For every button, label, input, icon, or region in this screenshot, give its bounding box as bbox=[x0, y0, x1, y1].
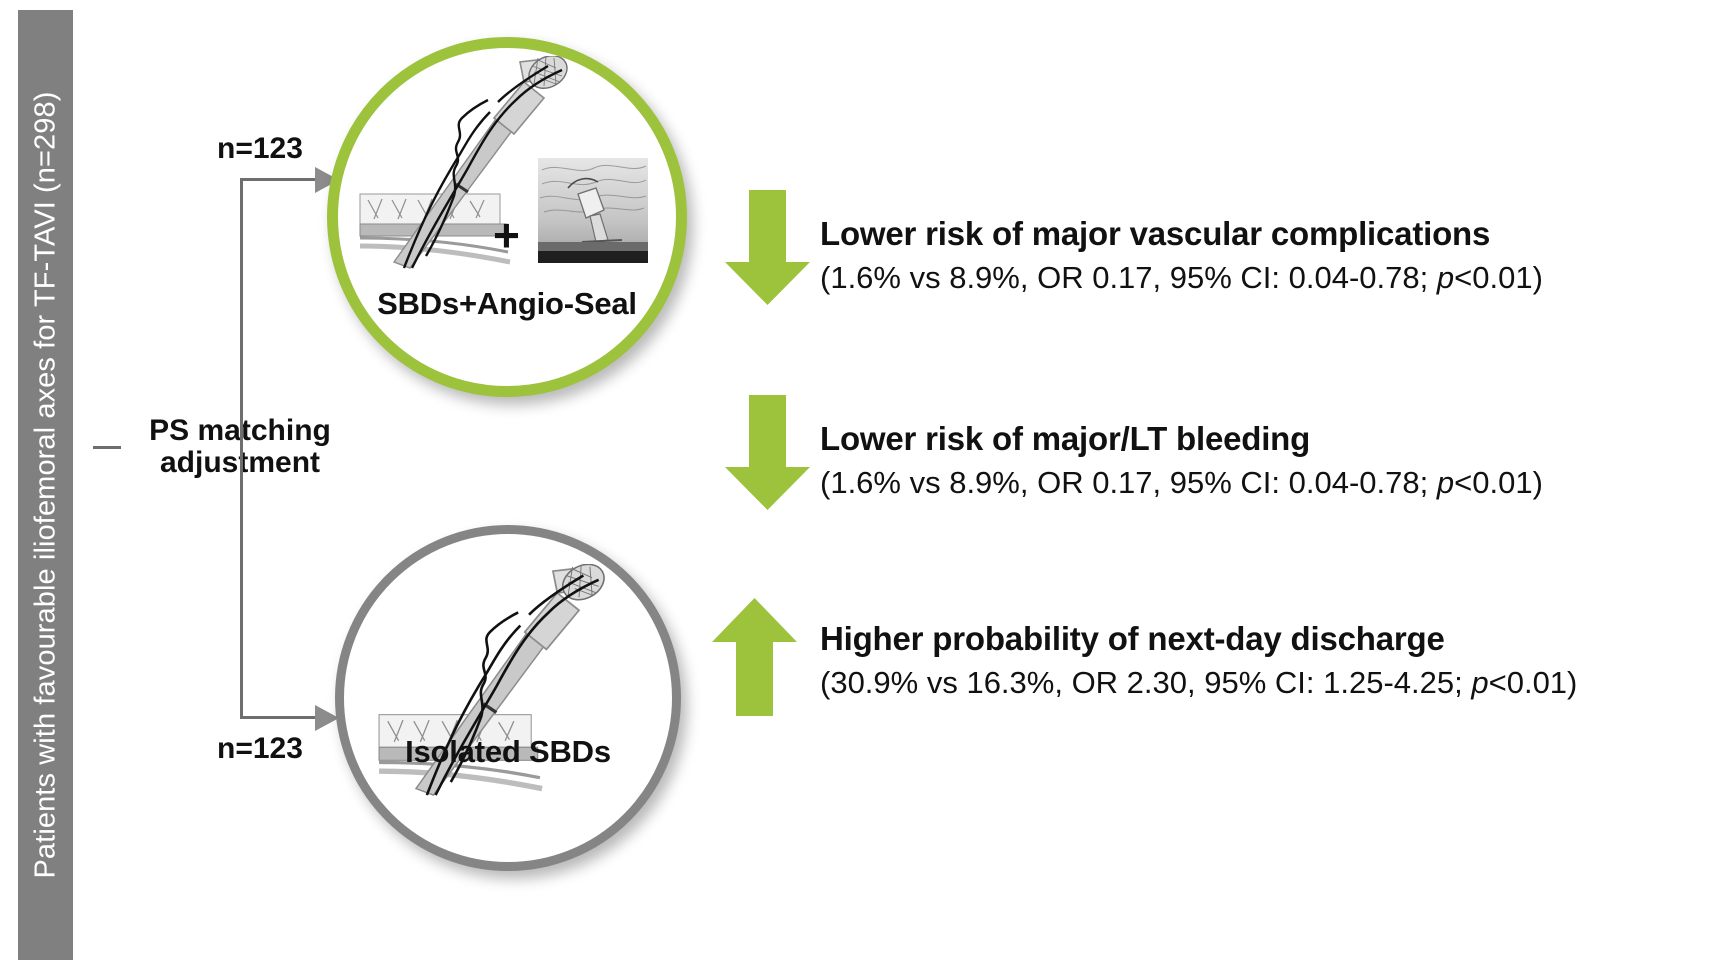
outcome-stats-3: (30.9% vs 16.3%, OR 2.30, 95% CI: 1.25-4… bbox=[820, 664, 1577, 701]
branch-bracket bbox=[240, 178, 243, 718]
group-caption-sbds-angioseal: SBDs+Angio-Seal bbox=[338, 286, 676, 322]
outcome-stats-p-1: p bbox=[1437, 260, 1454, 295]
outcome-title-3: Higher probability of next-day discharge bbox=[820, 620, 1577, 659]
outcome-stats-p-2: p bbox=[1437, 465, 1454, 500]
outcome-stats-1: (1.6% vs 8.9%, OR 0.17, 95% CI: 0.04-0.7… bbox=[820, 259, 1543, 296]
outcome-stats-2: (1.6% vs 8.9%, OR 0.17, 95% CI: 0.04-0.7… bbox=[820, 464, 1543, 501]
up-arrow-icon-3 bbox=[712, 598, 797, 716]
outcome-stats-prefix-2: (1.6% vs 8.9%, OR 0.17, 95% CI: 0.04-0.7… bbox=[820, 465, 1437, 500]
outcome-stats-suffix-3: <0.01) bbox=[1489, 665, 1578, 700]
flow-stem bbox=[93, 446, 121, 449]
plus-sign: + bbox=[493, 208, 520, 262]
branch-top-n-label: n=123 bbox=[217, 132, 303, 166]
outcome-stats-prefix-1: (1.6% vs 8.9%, OR 0.17, 95% CI: 0.04-0.7… bbox=[820, 260, 1437, 295]
outcome-stats-suffix-1: <0.01) bbox=[1454, 260, 1543, 295]
down-arrow-icon-1 bbox=[725, 190, 810, 305]
outcome-stats-p-3: p bbox=[1471, 665, 1488, 700]
outcome-stats-prefix-3: (30.9% vs 16.3%, OR 2.30, 95% CI: 1.25-4… bbox=[820, 665, 1471, 700]
outcome-block-3: Higher probability of next-day discharge… bbox=[820, 620, 1577, 701]
group-circle-isolated-sbds[interactable]: Isolated SBDs bbox=[335, 525, 681, 871]
branch-arm-bottom bbox=[240, 716, 318, 719]
group-caption-isolated-sbds: Isolated SBDs bbox=[344, 734, 672, 770]
branch-bottom-n-label: n=123 bbox=[217, 732, 303, 766]
outcome-title-1: Lower risk of major vascular complicatio… bbox=[820, 215, 1543, 254]
angio-seal-closure-art bbox=[538, 158, 648, 263]
angio-seal-photo-inset bbox=[538, 158, 648, 263]
study-population-banner: Patients with favourable iliofemoral axe… bbox=[18, 10, 73, 960]
group-circle-sbds-angioseal[interactable]: + bbox=[327, 37, 687, 397]
outcome-block-2: Lower risk of major/LT bleeding (1.6% vs… bbox=[820, 420, 1543, 501]
branch-arm-top bbox=[240, 178, 318, 181]
outcome-title-2: Lower risk of major/LT bleeding bbox=[820, 420, 1543, 459]
outcome-block-1: Lower risk of major vascular complicatio… bbox=[820, 215, 1543, 296]
down-arrow-icon-2 bbox=[725, 395, 810, 510]
outcome-stats-suffix-2: <0.01) bbox=[1454, 465, 1543, 500]
study-population-label: Patients with favourable iliofemoral axe… bbox=[29, 91, 62, 878]
